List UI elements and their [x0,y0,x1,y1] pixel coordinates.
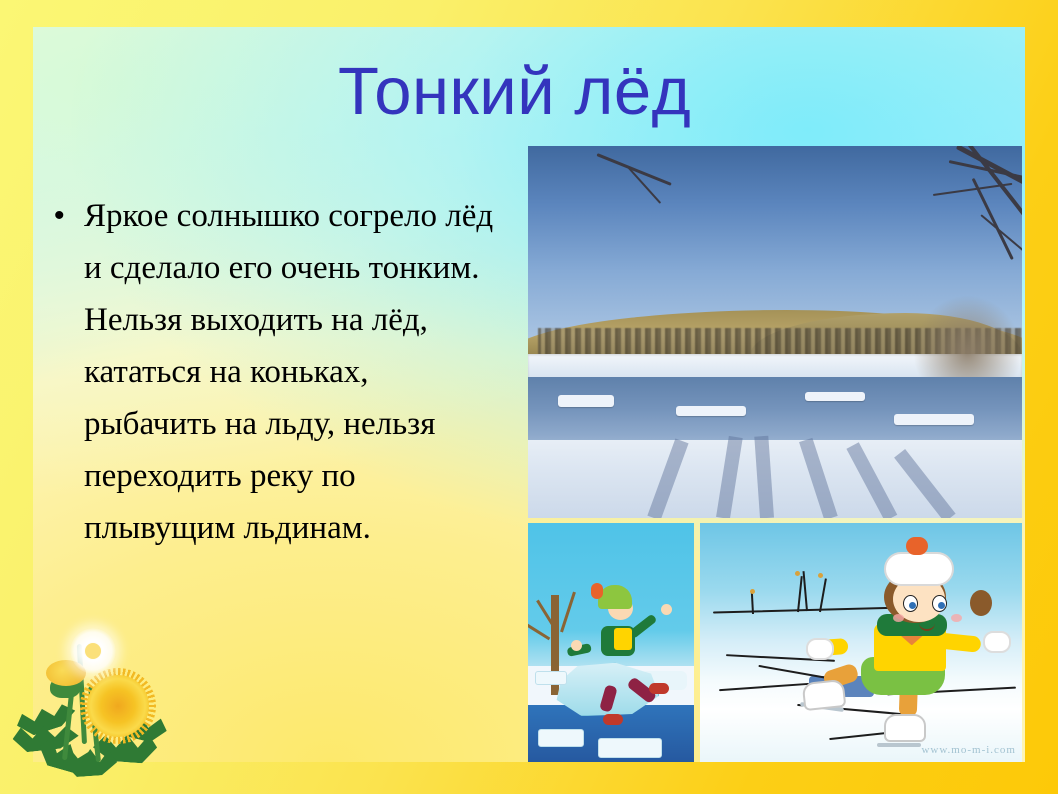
boy-hat-pompom [591,583,603,599]
dandelion-puff-core [85,643,101,659]
girl-hat [884,552,954,586]
shoreline [713,607,906,614]
boy-on-ice-floe-illustration [528,523,694,762]
ice-crack [758,665,828,679]
girl-mitten-left [806,638,834,660]
girl-skate-blade-right [877,743,921,747]
girl-skate-right [884,714,926,742]
reed-tip [750,589,755,594]
dandelion-clipart [6,628,221,794]
shrub-cluster [913,295,1022,377]
presentation-slide: Тонкий лёд • Яркое солнышко согрело лёд … [0,0,1058,794]
boy-sweater [614,628,632,650]
girl-cheek-left [893,614,904,622]
ice-floe [894,414,974,425]
bullet-marker-icon: • [48,190,84,242]
bullet-list: • Яркое солнышко согрело лёд и сделало е… [48,190,508,554]
ice-floe [538,729,584,747]
page-title: Тонкий лёд [338,58,758,125]
ice-floe [598,738,662,758]
ice-floe [558,395,614,407]
image-watermark: www.mo-m-i.com [921,744,1016,756]
girl-skating-illustration: www.mo-m-i.com [700,523,1022,762]
reed-tip [795,571,800,576]
boy-boot-left [603,714,623,725]
tree-twig [528,622,550,640]
girl-hat-pompom [906,537,928,555]
list-item: • Яркое солнышко согрело лёд и сделало е… [48,190,508,554]
ice-floe [535,671,567,685]
ice-floe [805,392,865,401]
tree-twig [560,591,576,632]
reed-tip [818,573,823,578]
girl-skate-left [802,679,847,711]
reed [819,578,827,612]
reed [803,571,808,611]
girl-mitten-right [983,631,1011,653]
dandelion-flower [87,675,149,737]
reed [797,576,803,612]
boy-hand-right [661,604,672,615]
ice-crack [719,682,809,690]
winter-river-photo [528,146,1022,518]
boy-boot-right [649,683,669,694]
girl-cheek-right [951,614,962,622]
bullet-text: Яркое солнышко согрело лёд и сделало его… [84,190,508,554]
girl-hair-side [970,590,992,616]
ice-floe [676,406,746,416]
